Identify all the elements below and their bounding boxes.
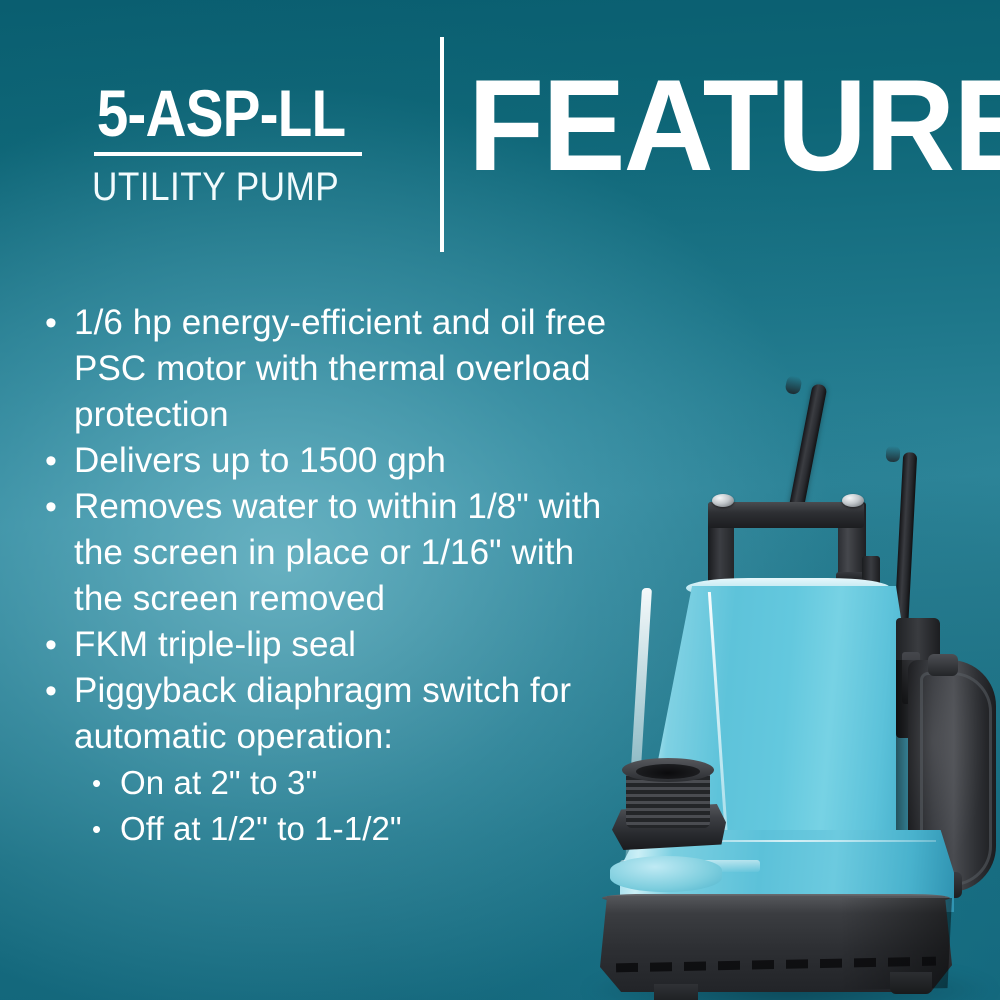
discharge-port-bore [636, 764, 700, 779]
sub-list-item: • Off at 1/2" to 1-1/2" [34, 806, 624, 852]
list-item: • Piggyback diaphragm switch for automat… [34, 668, 624, 760]
header-vertical-divider [440, 37, 444, 252]
screen-base-foot-right [890, 972, 932, 994]
list-item: • Delivers up to 1500 gph [34, 438, 624, 484]
bullet-icon: • [34, 484, 74, 530]
model-subtitle: UTILITY PUMP [92, 164, 339, 210]
bullet-icon: • [82, 760, 120, 806]
list-item: • 1/6 hp energy-efficient and oil free P… [34, 300, 624, 438]
switch-top-lug [928, 654, 958, 676]
carry-handle-opening [734, 528, 838, 582]
feature-slide: 5-ASP-LL UTILITY PUMP FEATURES • 1/6 hp … [0, 0, 1000, 1000]
page-title: FEATURES [468, 60, 1000, 190]
power-cord-blur [784, 375, 802, 396]
handle-bolt-right-icon [842, 494, 864, 507]
product-image-pump [590, 360, 1000, 1000]
list-item-label: FKM triple-lip seal [74, 622, 624, 668]
bullet-icon: • [34, 300, 74, 346]
bullet-icon: • [82, 806, 120, 852]
discharge-port-boss [610, 856, 722, 892]
model-divider-rule [94, 152, 362, 156]
screen-base-foot-left [654, 984, 698, 1000]
list-item-label: Removes water to within 1/8" with the sc… [74, 484, 624, 622]
sub-list-item: • On at 2" to 3" [34, 760, 624, 806]
bullet-icon: • [34, 622, 74, 668]
list-item: • Removes water to within 1/8" with the … [34, 484, 624, 622]
switch-cord-blur [886, 446, 901, 463]
model-name: 5-ASP-LL [92, 78, 350, 148]
list-item-label: Delivers up to 1500 gph [74, 438, 624, 484]
header: 5-ASP-LL UTILITY PUMP FEATURES [0, 0, 1000, 270]
list-item-label: 1/6 hp energy-efficient and oil free PSC… [74, 300, 624, 438]
features-list: • 1/6 hp energy-efficient and oil free P… [34, 300, 624, 852]
sub-list-item-label: On at 2" to 3" [120, 760, 624, 806]
handle-bolt-left-icon [712, 494, 734, 507]
list-item-label: Piggyback diaphragm switch for automatic… [74, 668, 624, 760]
list-item: • FKM triple-lip seal [34, 622, 624, 668]
model-block: 5-ASP-LL UTILITY PUMP [92, 78, 392, 148]
bullet-icon: • [34, 668, 74, 714]
sub-list-item-label: Off at 1/2" to 1-1/2" [120, 806, 624, 852]
bullet-icon: • [34, 438, 74, 484]
carry-handle-bar [708, 502, 864, 528]
